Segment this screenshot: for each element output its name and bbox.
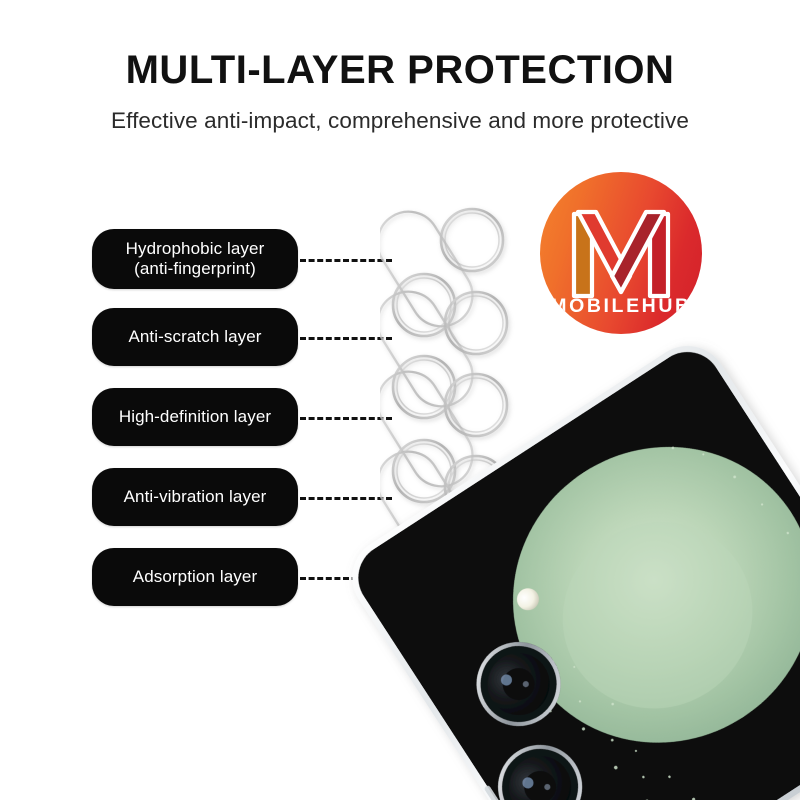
layer-label-line1: High-definition layer [119,407,271,427]
layer-label-line1: Hydrophobic layer [126,239,265,259]
layer-callout-anti-scratch: Anti-scratch layer [92,308,298,366]
connector-line [300,417,392,420]
connector-line [300,259,392,262]
connector-line [300,337,392,340]
layer-callout-adsorption: Adsorption layer [92,548,298,606]
layer-badge[interactable]: Hydrophobic layer (anti-fingerprint) [92,229,298,289]
layer-label-line2: (anti-fingerprint) [126,259,265,279]
layer-callout-high-definition: High-definition layer [92,388,298,446]
layer-badge[interactable]: Anti-scratch layer [92,308,298,366]
infographic-canvas: MULTI-LAYER PROTECTION Effective anti-im… [0,0,800,800]
page-title: MULTI-LAYER PROTECTION [0,48,800,93]
logo-wordmark: MOBILEHUB [550,295,691,317]
layer-badge[interactable]: High-definition layer [92,388,298,446]
layer-label-line1: Adsorption layer [133,567,257,587]
brand-logo-badge[interactable]: MOBILEHUB [540,172,702,334]
layer-badge[interactable]: Anti-vibration layer [92,468,298,526]
layer-label-line1: Anti-vibration layer [124,487,267,507]
layer-callout-hydrophobic: Hydrophobic layer (anti-fingerprint) [92,229,298,289]
layer-label-line1: Anti-scratch layer [128,327,261,347]
phone-product-image [380,390,800,800]
layer-badge[interactable]: Adsorption layer [92,548,298,606]
connector-line [300,497,392,500]
layer-callout-anti-vibration: Anti-vibration layer [92,468,298,526]
page-subtitle: Effective anti-impact, comprehensive and… [0,108,800,134]
